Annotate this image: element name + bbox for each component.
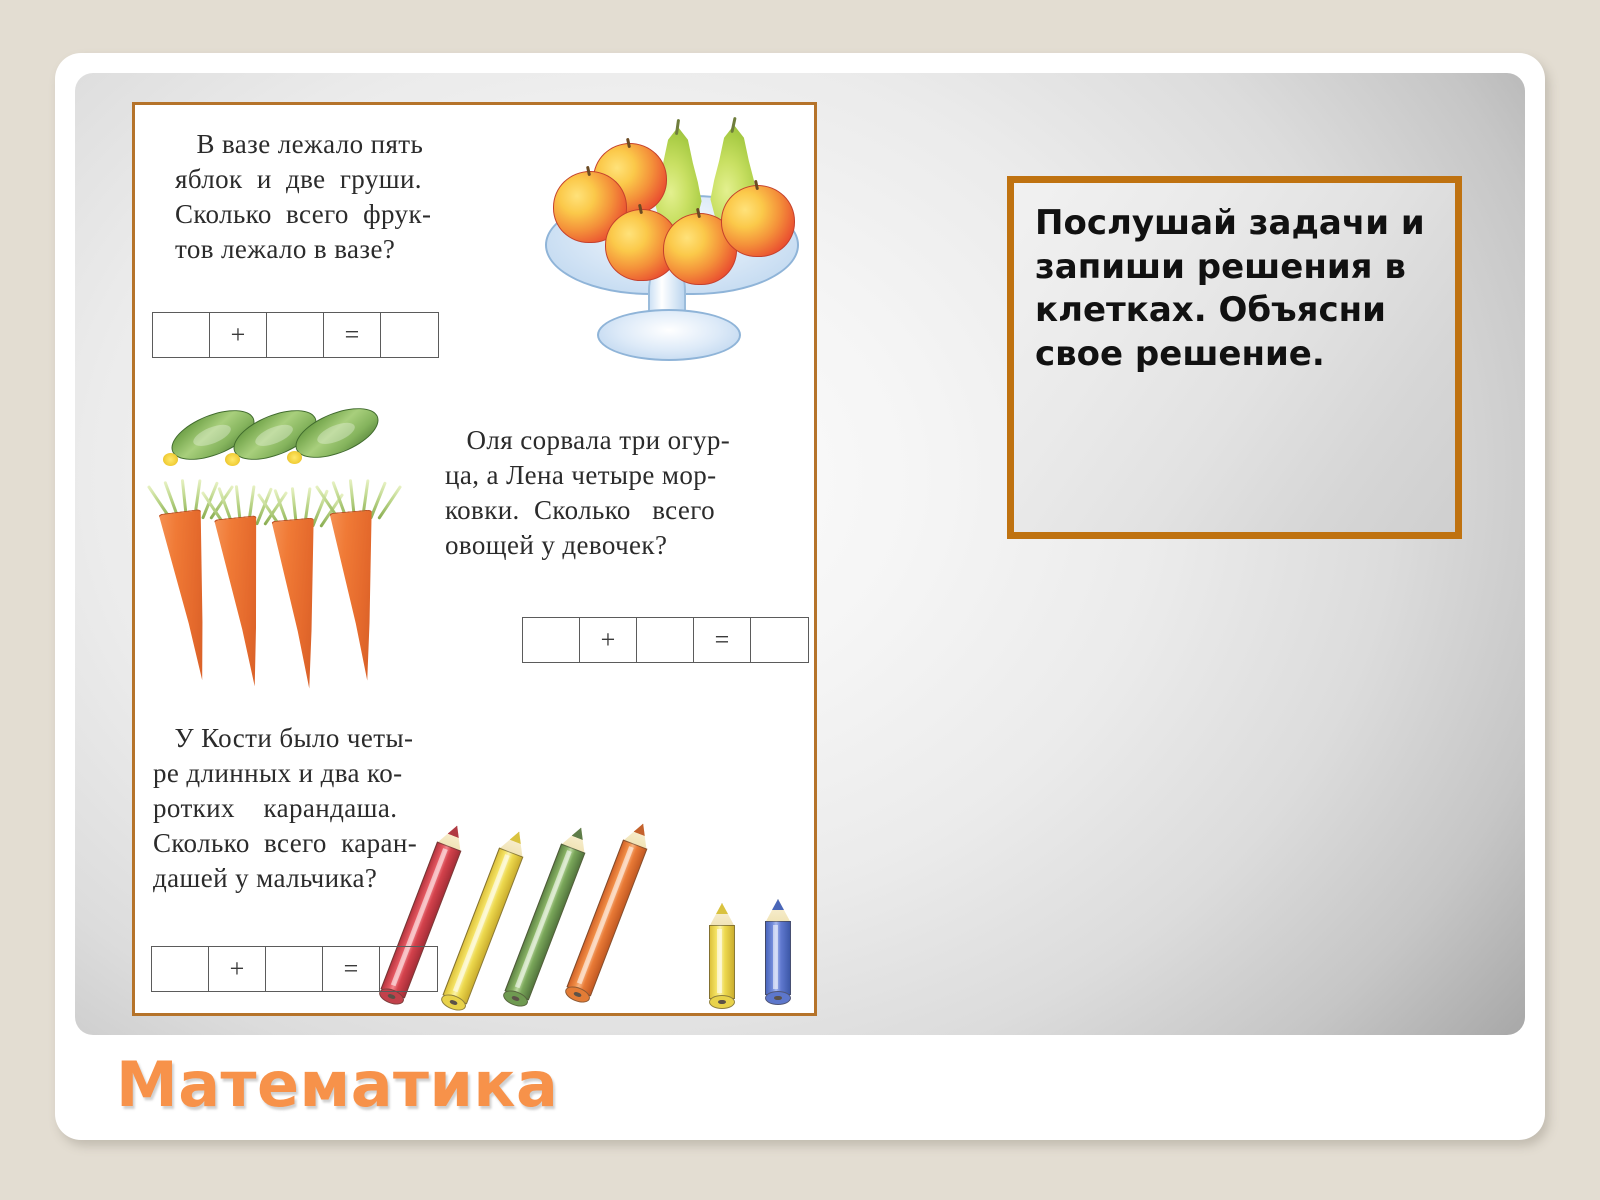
problem-1-text: В вазе лежало пять яблок и две груши. Ск… [175, 127, 535, 267]
carrot-3 [270, 517, 331, 690]
pencils-illustration [425, 811, 805, 1007]
carrot-1 [157, 509, 223, 683]
answer-cell-3-1[interactable] [152, 947, 209, 991]
answer-cell-3-3[interactable] [266, 947, 323, 991]
answer-cell-1-1[interactable] [153, 313, 210, 357]
problem-2-line-3: ковки. Сколько всего [445, 493, 805, 528]
fruit-bowl-illustration [535, 117, 807, 365]
answer-cell-3-4: = [323, 947, 380, 991]
worksheet-image: В вазе лежало пять яблок и две груши. Ск… [132, 102, 817, 1016]
answer-cell-1-5[interactable] [381, 313, 438, 357]
carrot-4 [328, 509, 389, 682]
carrot-2 [212, 515, 276, 689]
answer-cell-1-4: = [324, 313, 381, 357]
answer-cell-3-2: + [209, 947, 266, 991]
answer-cell-1-2: + [210, 313, 267, 357]
slide-card: В вазе лежало пять яблок и две груши. Ск… [55, 53, 1545, 1140]
answer-row-1[interactable]: + = [152, 312, 439, 358]
answer-cell-3-5[interactable] [380, 947, 437, 991]
answer-cell-2-4: = [694, 618, 751, 662]
problem-1-line-2: яблок и две груши. [175, 162, 535, 197]
problem-2-text: Оля сорвала три огур- ца, а Лена четыре … [445, 423, 805, 563]
answer-cell-1-3[interactable] [267, 313, 324, 357]
cucumber-1-flower [163, 453, 178, 466]
problem-1-line-1: В вазе лежало пять [175, 127, 535, 162]
problem-2-line-4: овощей у девочек? [445, 528, 805, 563]
instruction-box: Послушай задачи и запиши решения в клетк… [1007, 176, 1462, 539]
apple-5 [721, 185, 795, 257]
answer-row-2[interactable]: + = [522, 617, 809, 663]
problem-2-line-1: Оля сорвала три огур- [445, 423, 805, 458]
problem-3-line-1: У Кости было четы- [153, 721, 493, 756]
answer-cell-2-2: + [580, 618, 637, 662]
answer-row-3[interactable]: + = [151, 946, 438, 992]
content-panel: В вазе лежало пять яблок и две груши. Ск… [75, 73, 1525, 1035]
instruction-text: Послушай задачи и запиши решения в клетк… [1035, 202, 1445, 376]
cucumber-2-flower [225, 453, 240, 466]
problem-3-line-2: ре длинных и два ко- [153, 756, 493, 791]
page-title: Математика [116, 1048, 558, 1121]
cucumber-3-flower [287, 451, 302, 464]
problem-2-line-2: ца, а Лена четыре мор- [445, 458, 805, 493]
answer-cell-2-3[interactable] [637, 618, 694, 662]
problem-1-line-3: Сколько всего фрук- [175, 197, 535, 232]
answer-cell-2-5[interactable] [751, 618, 808, 662]
fruit-bowl-foot [597, 309, 741, 361]
answer-cell-2-1[interactable] [523, 618, 580, 662]
cucumber-3 [289, 398, 386, 468]
problem-1-line-4: тов лежало в вазе? [175, 232, 535, 267]
vegetables-illustration [153, 407, 453, 677]
slide-root: { "slide": { "title": "Математика", "tit… [0, 0, 1600, 1200]
